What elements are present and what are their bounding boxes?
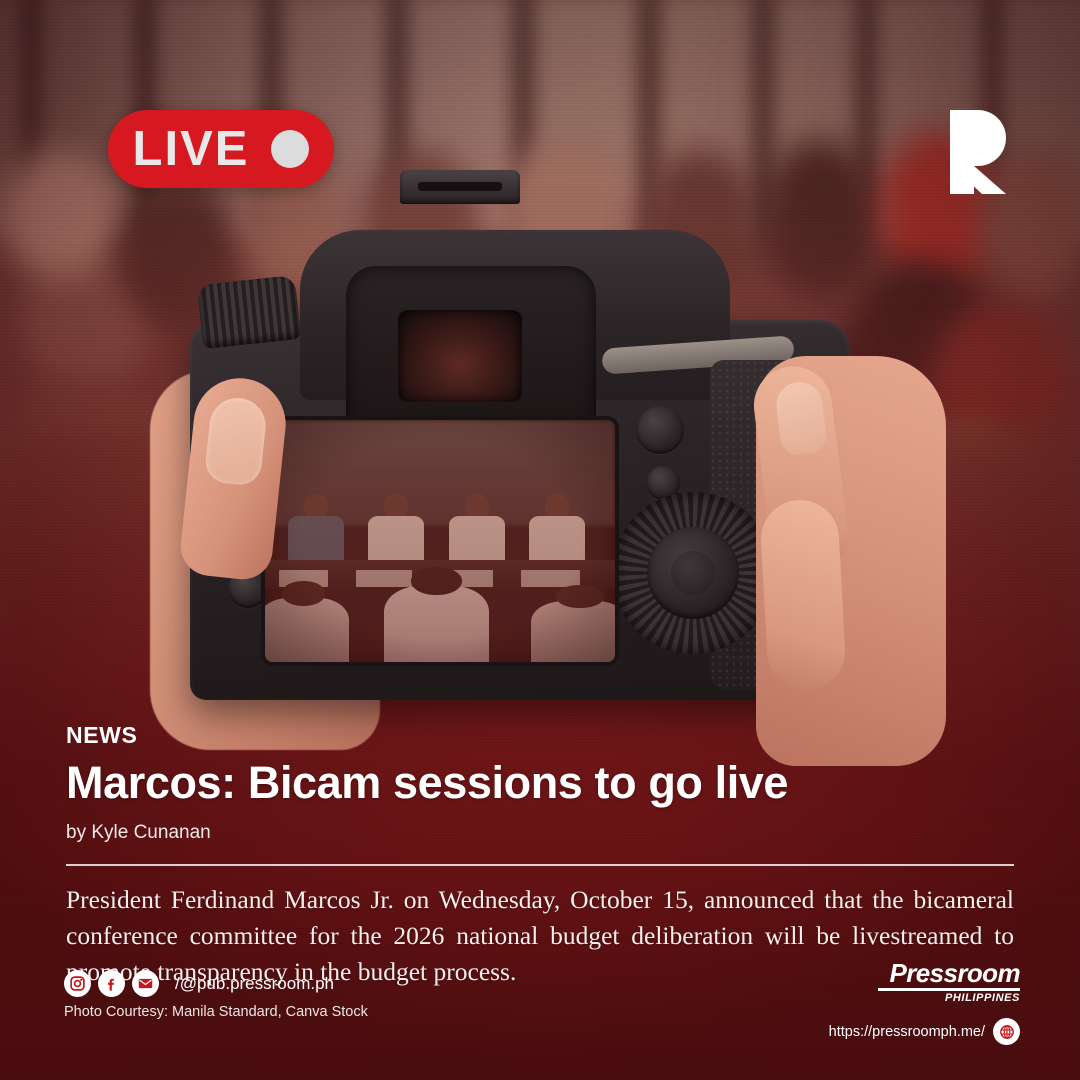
social-icon-row: /@pub.pressroom.ph	[64, 970, 368, 997]
article-text-block: NEWS Marcos: Bicam sessions to go live b…	[66, 722, 1014, 990]
instagram-icon[interactable]	[64, 970, 91, 997]
lcd-vignette	[265, 420, 615, 662]
divider-rule	[66, 864, 1014, 866]
right-middle-finger	[759, 498, 847, 692]
r-monogram-icon	[944, 108, 1014, 194]
camera-lcd-screen	[265, 420, 615, 662]
footer-brand-block: Pressroom PHILIPPINES https://pressroomp…	[838, 960, 1020, 1045]
category-kicker: NEWS	[66, 722, 1014, 749]
email-icon[interactable]	[132, 970, 159, 997]
social-handle: /@pub.pressroom.ph	[175, 974, 334, 994]
live-badge[interactable]: LIVE	[108, 110, 334, 188]
live-badge-label: LIVE	[133, 125, 250, 174]
brand-wordmark: Pressroom	[838, 960, 1020, 986]
globe-icon[interactable]	[993, 1018, 1020, 1045]
viewfinder-window	[398, 310, 522, 402]
photo-courtesy: Photo Courtesy: Manila Standard, Canva S…	[64, 1004, 368, 1020]
set-button	[671, 551, 715, 595]
headline: Marcos: Bicam sessions to go live	[66, 759, 1014, 808]
brand-underline	[878, 988, 1020, 991]
live-dot-icon	[271, 130, 309, 168]
camera-button	[636, 406, 684, 454]
footer-social-block: /@pub.pressroom.ph Photo Courtesy: Manil…	[64, 970, 368, 1020]
hot-shoe-slot	[418, 182, 502, 191]
byline: by Kyle Cunanan	[66, 822, 1014, 844]
news-graphic-card: LIVE NEWS Marcos: Bicam sessions to go l…	[0, 0, 1080, 1080]
mode-dial	[197, 275, 301, 349]
website-url[interactable]: https://pressroomph.me/	[829, 1024, 985, 1040]
brand-subtitle: PHILIPPINES	[838, 992, 1020, 1004]
facebook-icon[interactable]	[98, 970, 125, 997]
website-row: https://pressroomph.me/	[838, 1018, 1020, 1045]
lcd-scene	[265, 420, 615, 662]
camera-photo-subject	[150, 170, 890, 710]
